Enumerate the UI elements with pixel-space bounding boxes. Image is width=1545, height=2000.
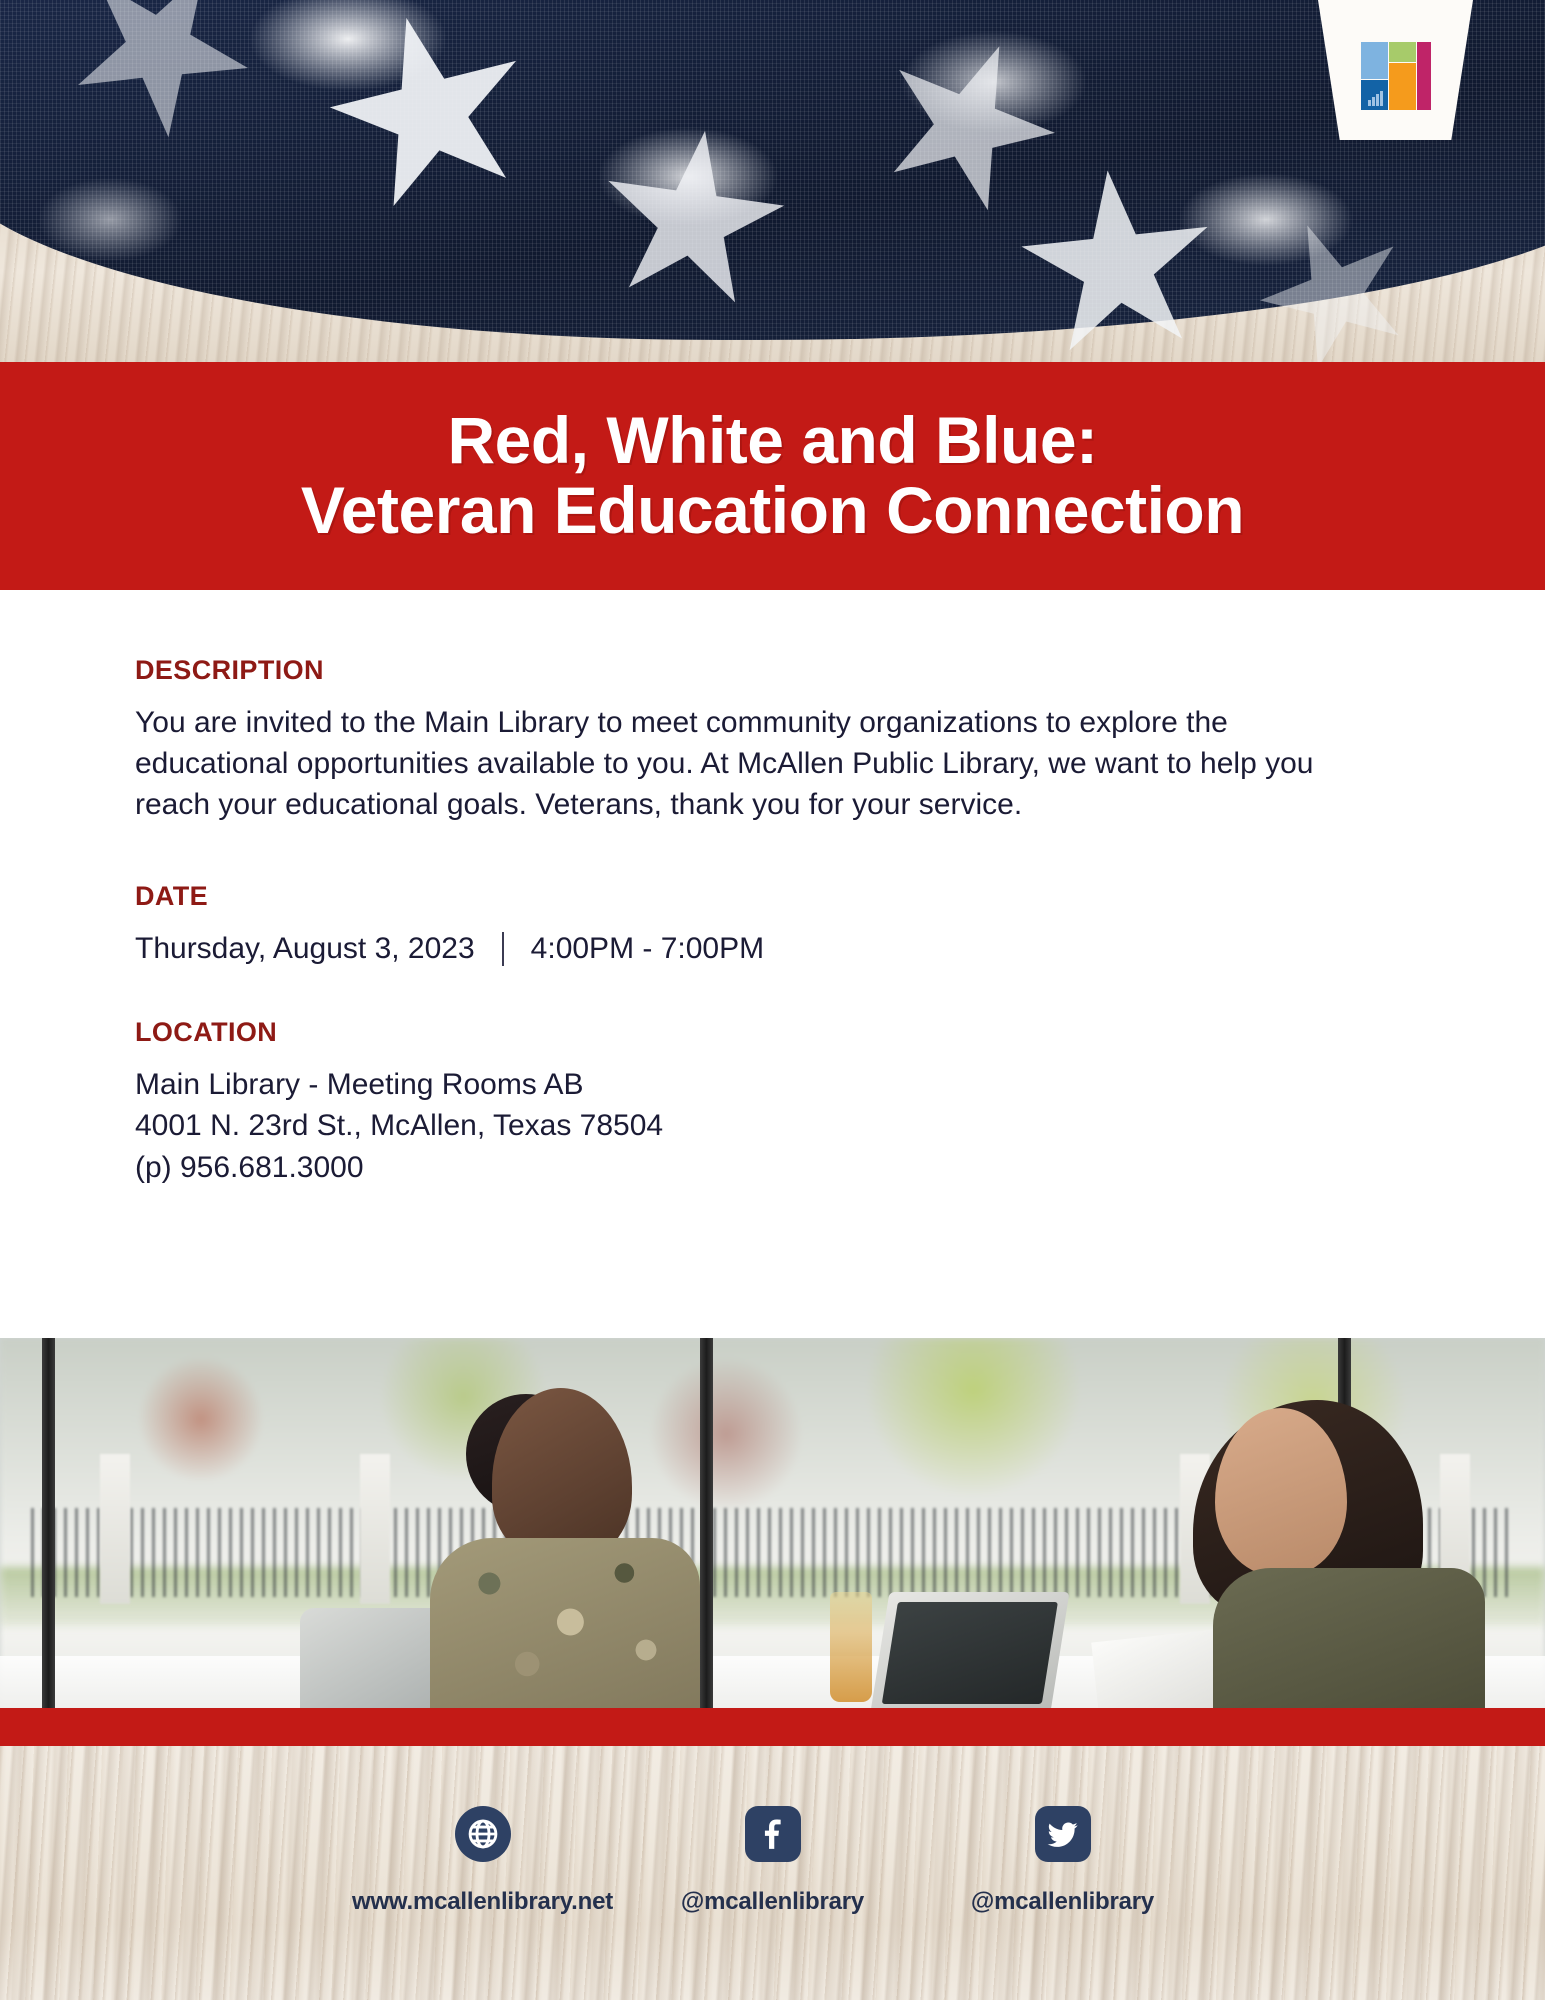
- website-label[interactable]: www.mcallenlibrary.net: [352, 1888, 613, 1916]
- logo-block-magenta: [1417, 42, 1431, 110]
- logo-bar: [1376, 94, 1379, 106]
- social-links-row: www.mcallenlibrary.net @mcallenlibrary @…: [0, 1806, 1545, 1916]
- logo-bar: [1372, 97, 1375, 106]
- description-text: You are invited to the Main Library to m…: [135, 702, 1330, 825]
- date-day: Thursday, August 3, 2023: [135, 928, 475, 969]
- logo-bar: [1368, 100, 1371, 106]
- location-line-3: (p) 956.681.3000: [135, 1147, 1330, 1188]
- location-block: LOCATION Main Library - Meeting Rooms AB…: [135, 1017, 1410, 1187]
- facebook-icon[interactable]: [745, 1806, 801, 1862]
- hero-flag-photo: [0, 0, 1545, 362]
- facebook-label[interactable]: @mcallenlibrary: [681, 1888, 864, 1916]
- twitter-icon[interactable]: [1035, 1806, 1091, 1862]
- event-photo: [0, 1338, 1545, 1708]
- globe-icon[interactable]: [455, 1806, 511, 1862]
- date-row: Thursday, August 3, 2023 4:00PM - 7:00PM: [135, 928, 1410, 969]
- date-separator: [502, 932, 504, 966]
- library-advisor: [1185, 1408, 1485, 1708]
- location-line-2: 4001 N. 23rd St., McAllen, Texas 78504: [135, 1105, 1330, 1146]
- fence-post: [360, 1454, 390, 1604]
- location-line-1: Main Library - Meeting Rooms AB: [135, 1064, 1330, 1105]
- window-frame: [700, 1338, 713, 1708]
- logo-block-green: [1389, 42, 1416, 62]
- logo-bar: [1380, 91, 1383, 106]
- jacket: [1213, 1568, 1485, 1708]
- page-title-line-1: Red, White and Blue:: [448, 406, 1098, 476]
- footer: www.mcallenlibrary.net @mcallenlibrary @…: [0, 1746, 1545, 2000]
- date-block: DATE Thursday, August 3, 2023 4:00PM - 7…: [135, 881, 1410, 969]
- date-heading: DATE: [135, 881, 1410, 912]
- date-time: 4:00PM - 7:00PM: [531, 928, 764, 969]
- veteran-in-camouflage-uniform: [430, 1388, 700, 1708]
- laptop: [870, 1592, 1069, 1708]
- fence-post: [100, 1454, 130, 1604]
- location-heading: LOCATION: [135, 1017, 1410, 1048]
- laptop-screen: [882, 1602, 1058, 1704]
- logo-color-blocks: [1361, 42, 1431, 110]
- chair: [300, 1608, 450, 1708]
- logo-block-orange: [1389, 63, 1416, 110]
- head: [492, 1388, 632, 1563]
- description-heading: DESCRIPTION: [135, 655, 1410, 686]
- footer-facebook[interactable]: @mcallenlibrary: [628, 1806, 918, 1916]
- location-lines: Main Library - Meeting Rooms AB 4001 N. …: [135, 1064, 1330, 1187]
- camouflage-uniform: [430, 1538, 700, 1708]
- page-title-line-2: Veteran Education Connection: [301, 476, 1244, 546]
- window-frame: [42, 1338, 55, 1708]
- footer-website[interactable]: www.mcallenlibrary.net: [338, 1806, 628, 1916]
- description-block: DESCRIPTION You are invited to the Main …: [135, 655, 1410, 825]
- event-flyer: Red, White and Blue: Veteran Education C…: [0, 0, 1545, 2000]
- drinking-glass: [830, 1592, 872, 1702]
- event-details: DESCRIPTION You are invited to the Main …: [0, 590, 1545, 1338]
- logo-block-dark-blue: [1361, 80, 1388, 110]
- red-divider-bar: [0, 1708, 1545, 1746]
- footer-twitter[interactable]: @mcallenlibrary: [918, 1806, 1208, 1916]
- logo-block-light-blue: [1361, 42, 1388, 79]
- twitter-label[interactable]: @mcallenlibrary: [971, 1888, 1154, 1916]
- title-banner: Red, White and Blue: Veteran Education C…: [0, 362, 1545, 590]
- library-logo: [1318, 0, 1473, 140]
